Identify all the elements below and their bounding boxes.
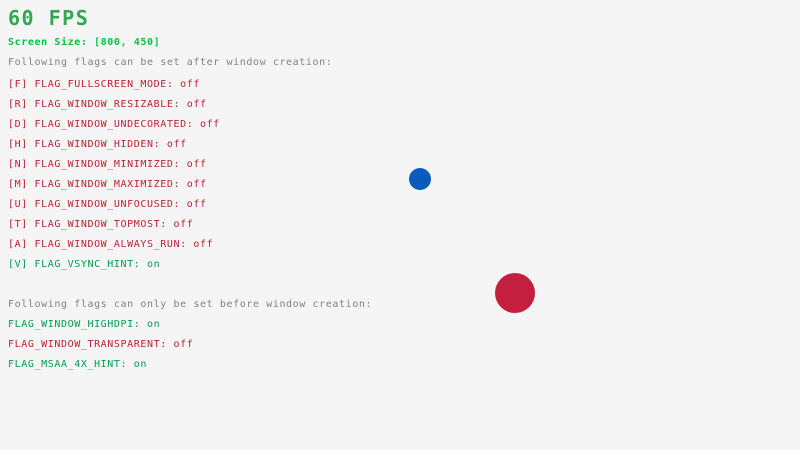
flag-row-vsync-hint[interactable]: [V] FLAG_VSYNC_HINT: on [8,260,160,270]
flag-row-window-unfocused[interactable]: [U] FLAG_WINDOW_UNFOCUSED: off [8,200,207,210]
flag-row-window-always-run[interactable]: [A] FLAG_WINDOW_ALWAYS_RUN: off [8,240,213,250]
fps-counter: 60 FPS [8,8,89,28]
blue-ball-shape [409,168,431,190]
flag-row-msaa-4x-hint: FLAG_MSAA_4X_HINT: on [8,360,147,370]
flag-row-window-highdpi: FLAG_WINDOW_HIGHDPI: on [8,320,160,330]
flag-row-window-topmost[interactable]: [T] FLAG_WINDOW_TOPMOST: off [8,220,193,230]
runtime-flags-header: Following flags can be set after window … [8,58,332,68]
flag-row-window-hidden[interactable]: [H] FLAG_WINDOW_HIDDEN: off [8,140,187,150]
red-ball-shape [495,273,535,313]
flag-row-window-maximized[interactable]: [M] FLAG_WINDOW_MAXIMIZED: off [8,180,207,190]
flag-row-window-resizable[interactable]: [R] FLAG_WINDOW_RESIZABLE: off [8,100,207,110]
raylib-window-flags-demo: 60 FPS Screen Size: [800, 450] Following… [0,0,800,450]
creation-flags-header: Following flags can only be set before w… [8,300,372,310]
flag-row-window-minimized[interactable]: [N] FLAG_WINDOW_MINIMIZED: off [8,160,207,170]
flag-row-window-transparent: FLAG_WINDOW_TRANSPARENT: off [8,340,193,350]
screen-size-label: Screen Size: [800, 450] [8,38,160,48]
flag-row-window-undecorated[interactable]: [D] FLAG_WINDOW_UNDECORATED: off [8,120,220,130]
flag-row-fullscreen-mode[interactable]: [F] FLAG_FULLSCREEN_MODE: off [8,80,200,90]
